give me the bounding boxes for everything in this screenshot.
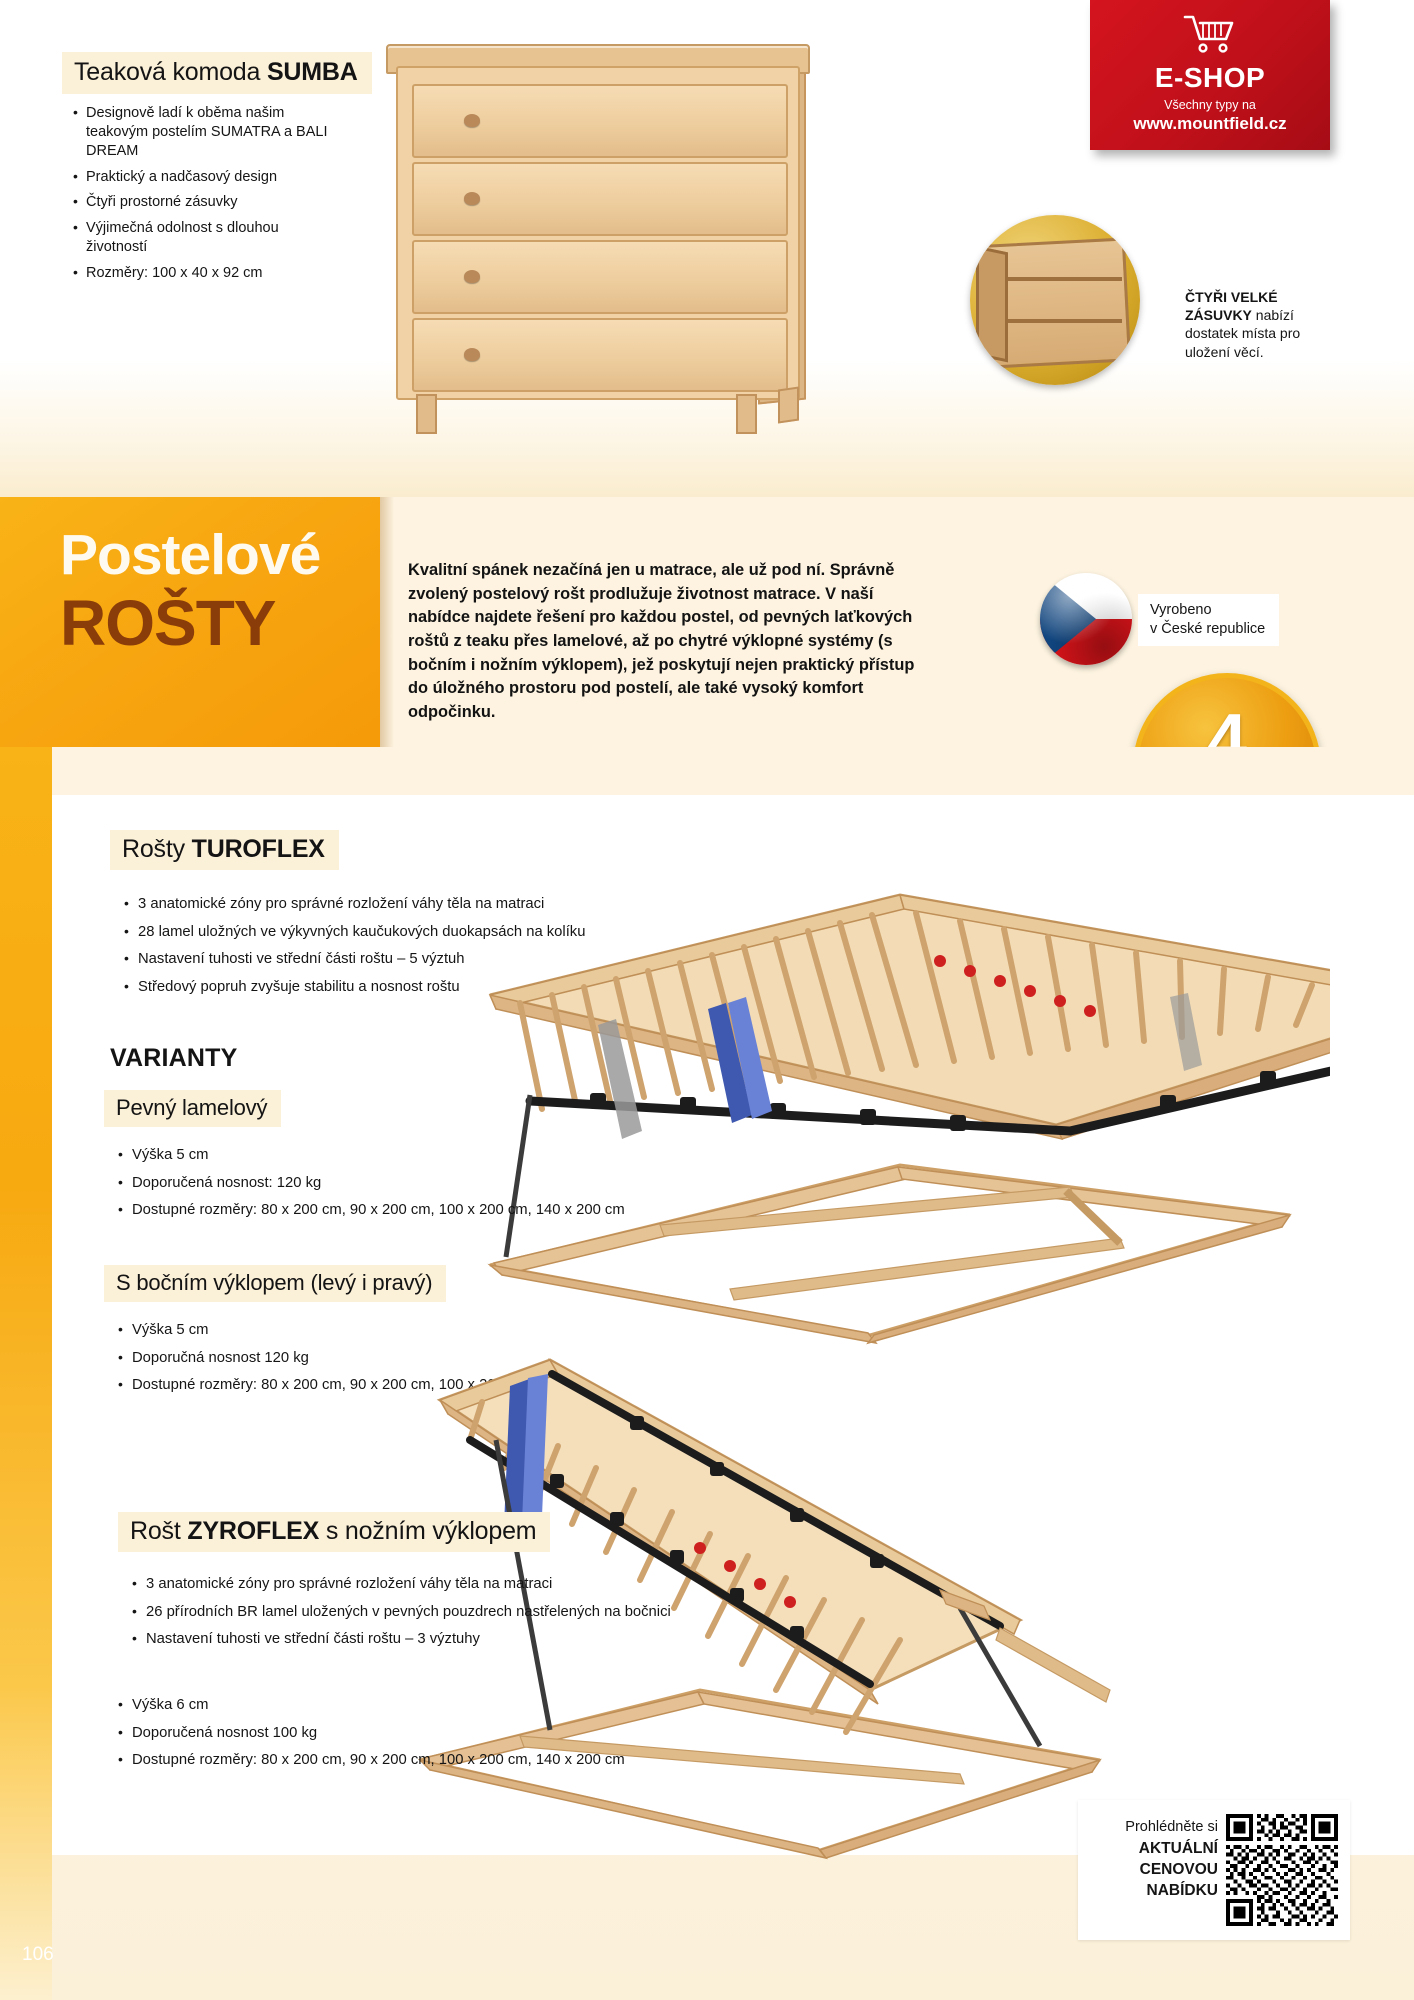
list-item: Dostupné rozměry: 80 x 200 cm, 90 x 200 … [116, 1201, 756, 1221]
sumba-product-title: Teaková komoda SUMBA [62, 52, 372, 94]
eshop-title: E-SHOP [1090, 64, 1330, 92]
section-title-line2: ROŠTY [60, 591, 275, 655]
list-item: 26 přírodních BR lamel uložených v pevný… [130, 1603, 830, 1623]
turoflex-title: Rošty TUROFLEX [110, 830, 339, 870]
made-in-label: Vyrobeno v České republice [1138, 594, 1279, 646]
zyroflex-title: Rošt ZYROFLEX s nožním výklopem [118, 1512, 550, 1552]
section-title-line1: Postelové [60, 527, 320, 584]
eshop-badge[interactable]: E-SHOP Všechny typy na www.mountfield.cz [1090, 0, 1330, 150]
zyroflex-title-bold: ZYROFLEX [187, 1517, 319, 1545]
list-item: Čtyři prostorné zásuvky [72, 193, 332, 212]
left-orange-stripe [0, 747, 52, 2000]
list-item: Výška 6 cm [116, 1696, 736, 1716]
czech-flag-icon [1040, 573, 1132, 665]
zyroflex-title-post: s nožním výklopem [319, 1517, 536, 1545]
list-item: Designově ladí k oběma našim teakovým po… [72, 104, 332, 161]
qr-promo-box[interactable]: Prohlédněte si AKTUÁLNÍ CENOVOU NABÍDKU [1078, 1800, 1350, 1940]
eshop-subtitle: Všechny typy na [1090, 98, 1330, 112]
page-number: 106 [22, 1944, 54, 1966]
list-item: Rozměry: 100 x 40 x 92 cm [72, 264, 332, 283]
zyroflex-feature-list: 3 anatomické zóny pro správné rozložení … [130, 1575, 830, 1658]
varianty-heading: VARIANTY [110, 1044, 238, 1073]
list-item: Středový popruh zvyšuje stabilitu a nosn… [122, 978, 742, 998]
variant-pevny-title-wrapper: Pevný lamelový [104, 1090, 281, 1127]
qr-line1: Prohlédněte si [1088, 1818, 1218, 1838]
turoflex-title-wrapper: Rošty TUROFLEX [110, 830, 339, 870]
made-in-line1: Vyrobeno [1150, 601, 1265, 620]
shopping-cart-icon [1183, 14, 1237, 54]
section-intro-paragraph: Kvalitní spánek nezačíná jen u matrace, … [408, 559, 928, 724]
band-shadow [380, 497, 394, 747]
sumba-title-wrapper: Teaková komoda SUMBA [62, 52, 372, 94]
list-item: Nastavení tuhosti ve střední části roštu… [122, 950, 742, 970]
made-in-line2: v České republice [1150, 620, 1265, 639]
list-item: Doporučená nosnost: 120 kg [116, 1174, 756, 1194]
catalog-page: Teaková komoda SUMBA Designově ladí k ob… [0, 0, 1414, 2000]
list-item: Doporučená nosnost 100 kg [116, 1724, 736, 1744]
sumba-title-plain: Teaková komoda [74, 58, 267, 86]
qr-line4: NABÍDKU [1088, 1880, 1218, 1901]
turoflex-feature-list: 3 anatomické zóny pro správné rozložení … [122, 895, 742, 1005]
list-item: Výjimečná odolnost s dlouhou životností [72, 219, 332, 257]
qr-line3: CENOVOU [1088, 1859, 1218, 1880]
zyroflex-title-pre: Rošt [130, 1517, 187, 1545]
variant-bocni-title-wrapper: S bočním výklopem (levý i pravý) [104, 1265, 446, 1302]
variant-bocni-title: S bočním výklopem (levý i pravý) [104, 1265, 446, 1302]
sumba-feature-list: Designově ladí k oběma našim teakovým po… [72, 104, 332, 290]
qr-text: Prohlédněte si AKTUÁLNÍ CENOVOU NABÍDKU [1088, 1818, 1218, 1901]
list-item: 3 anatomické zóny pro správné rozložení … [122, 895, 742, 915]
list-item: 3 anatomické zóny pro správné rozložení … [130, 1575, 830, 1595]
qr-line2: AKTUÁLNÍ [1088, 1838, 1218, 1859]
eshop-url[interactable]: www.mountfield.cz [1090, 114, 1330, 134]
zyroflex-spec-list: Výška 6 cm Doporučená nosnost 100 kg Dos… [116, 1696, 736, 1779]
list-item: Dostupné rozměry: 80 x 200 cm, 90 x 200 … [116, 1751, 736, 1771]
turoflex-title-plain: Rošty [122, 835, 192, 863]
dresser-product-image [370, 20, 830, 430]
list-item: 28 lamel uložných ve výkyvných kaučukový… [122, 923, 742, 943]
qr-code-icon[interactable] [1226, 1814, 1338, 1926]
variant-pevny-title: Pevný lamelový [104, 1090, 281, 1127]
zyroflex-title-wrapper: Rošt ZYROFLEX s nožním výklopem [118, 1512, 550, 1552]
sumba-title-bold: SUMBA [267, 58, 358, 86]
list-item: Praktický a nadčasový design [72, 168, 332, 187]
list-item: Nastavení tuhosti ve střední části roštu… [130, 1630, 830, 1650]
turoflex-product-image [470, 795, 1330, 1355]
drawer-detail-photo [970, 215, 1140, 385]
drawer-callout-text: ČTYŘI VELKÉ ZÁSUVKY nabízí dostatek míst… [1185, 288, 1345, 361]
variant-pevny-specs: Výška 5 cm Doporučená nosnost: 120 kg Do… [116, 1146, 756, 1229]
list-item: Výška 5 cm [116, 1146, 756, 1166]
turoflex-title-bold: TUROFLEX [192, 835, 325, 863]
